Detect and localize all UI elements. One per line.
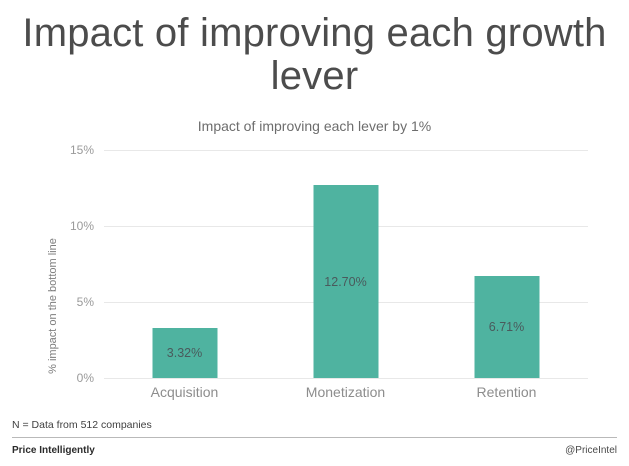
bar-value-label-monetization: 12.70% (313, 275, 378, 289)
y-tick-label-5: 5% (46, 295, 94, 309)
footer-social-handle: @PriceIntel (565, 445, 617, 456)
y-tick-label-10: 10% (46, 219, 94, 233)
footer-divider (12, 437, 617, 438)
bar-value-label-retention: 6.71% (474, 320, 539, 334)
bar-monetization[interactable]: 12.70% (313, 185, 378, 378)
chart-footnote: N = Data from 512 companies (12, 419, 152, 431)
y-tick-label-15: 15% (46, 143, 94, 157)
slide-canvas: Impact of improving each growth lever Im… (0, 0, 629, 466)
bar-slot-monetization: 12.70% (265, 140, 426, 378)
x-category-label-retention: Retention (426, 384, 587, 400)
bar-slot-acquisition: 3.32% (104, 140, 265, 378)
plot-area: 3.32% 12.70% 6.71% Acquisition Monetizat… (104, 140, 588, 378)
bar-value-label-acquisition: 3.32% (152, 346, 217, 360)
footer-brand-name: Price Intelligently (12, 445, 95, 456)
y-tick-label-0: 0% (46, 371, 94, 385)
page-title: Impact of improving each growth lever (0, 12, 629, 98)
bar-acquisition[interactable]: 3.32% (152, 328, 217, 378)
bar-chart: % impact on the bottom line 15% 10% 5% 0… (0, 140, 629, 410)
x-category-label-monetization: Monetization (265, 384, 426, 400)
bar-retention[interactable]: 6.71% (474, 276, 539, 378)
bar-slot-retention: 6.71% (426, 140, 587, 378)
gridline-0 (104, 378, 588, 379)
x-category-label-acquisition: Acquisition (104, 384, 265, 400)
chart-subtitle: Impact of improving each lever by 1% (0, 118, 629, 134)
